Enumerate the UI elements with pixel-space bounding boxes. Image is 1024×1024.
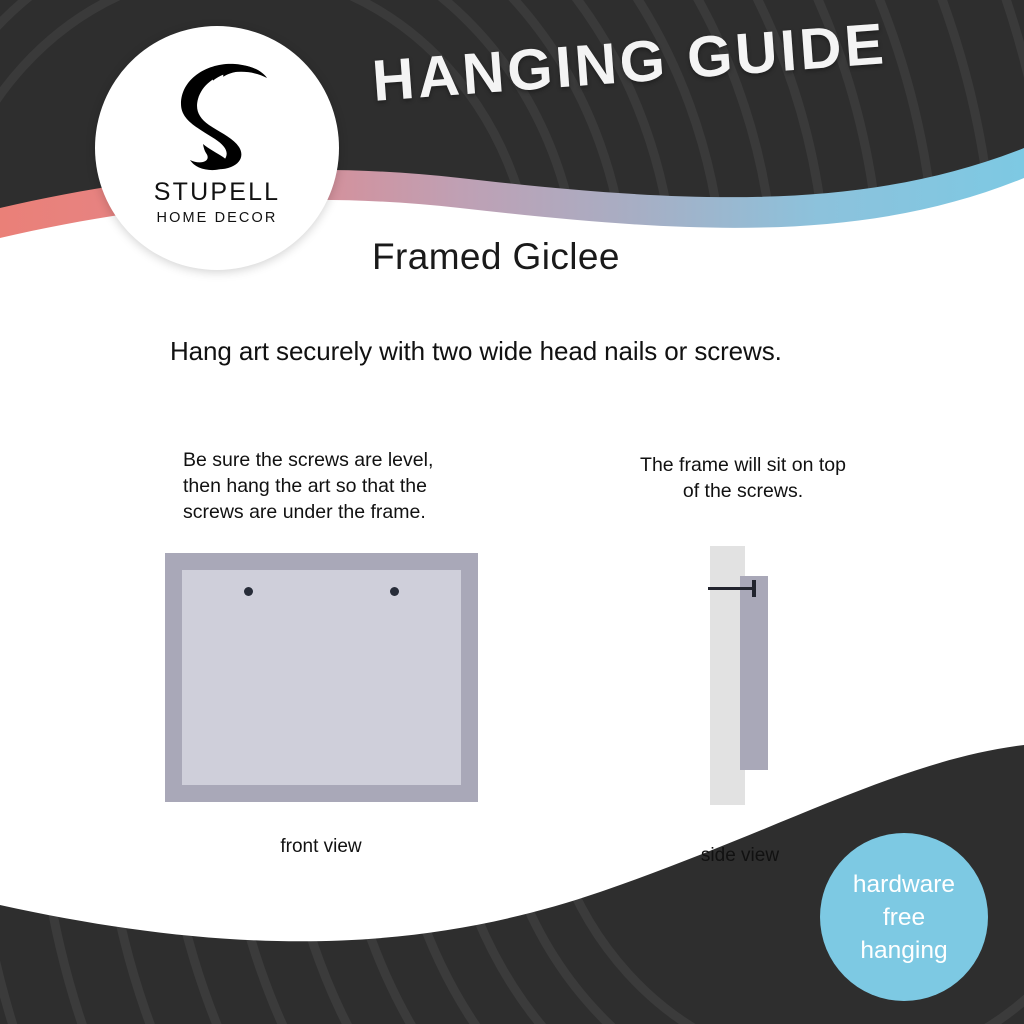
front-view-caption: Be sure the screws are level, then hang … [183,447,483,525]
brand-name: STUPELL [154,178,281,207]
badge-line-2: free [883,901,925,934]
nail-head-icon [752,580,756,597]
side-view-diagram [700,546,790,808]
front-caption-line-3: screws are under the frame. [183,499,483,525]
badge-line-1: hardware [853,868,955,901]
front-view-frame-diagram [165,553,478,802]
side-caption-line-2: of the screws. [598,478,888,504]
nail-shaft-icon [708,587,756,590]
badge-line-3: hanging [860,934,947,967]
main-instruction-text: Hang art securely with two wide head nai… [170,336,782,367]
screw-dot-left-icon [244,587,253,596]
brand-tagline: HOME DECOR [157,210,278,226]
side-view-label: side view [640,845,840,867]
hardware-free-hanging-badge: hardware free hanging [820,833,988,1001]
page-title: HANGING GUIDE [370,10,889,115]
brand-logo-badge: STUPELL HOME DECOR [95,26,339,270]
screw-dot-right-icon [390,587,399,596]
front-view-label: front view [221,836,421,858]
frame-artwork-area [182,570,461,785]
side-view-caption: The frame will sit on top of the screws. [598,452,888,504]
hanging-guide-page: STUPELL HOME DECOR HANGING GUIDE Framed … [0,0,1024,1024]
frame-strip [740,576,768,770]
front-caption-line-2: then hang the art so that the [183,473,483,499]
front-caption-line-1: Be sure the screws are level, [183,447,483,473]
side-caption-line-1: The frame will sit on top [598,452,888,478]
product-type-heading: Framed Giclee [372,236,620,278]
stupell-swirl-logo-icon [157,52,277,172]
